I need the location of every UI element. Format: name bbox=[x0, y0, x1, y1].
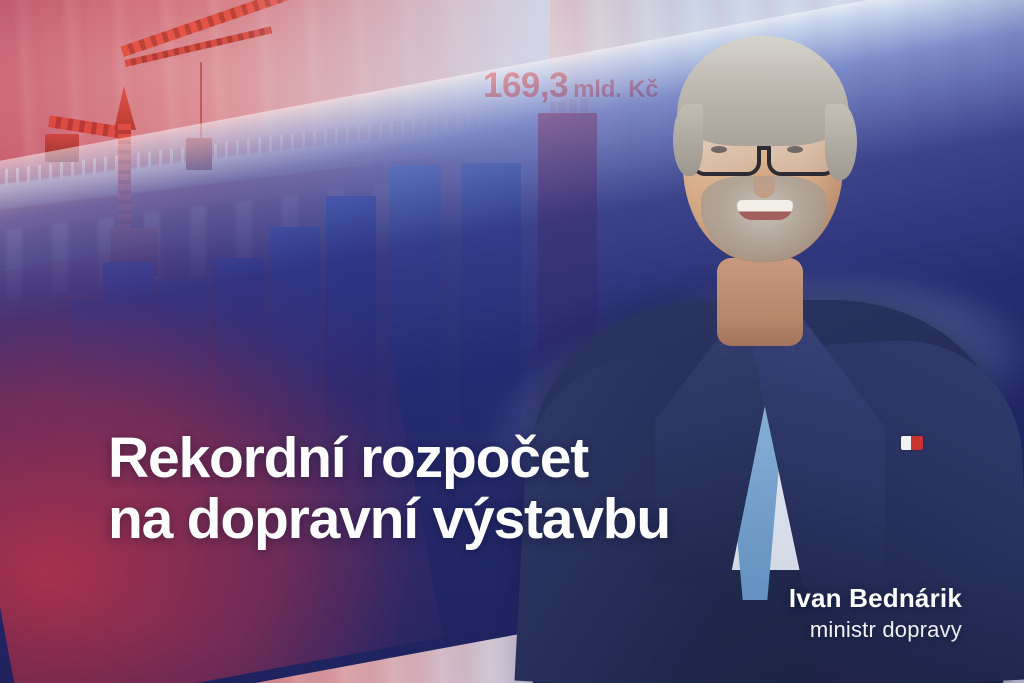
infographic-banner: 169,3mld. Kč Rekordn bbox=[0, 0, 1024, 683]
film-grain-overlay bbox=[0, 0, 1024, 683]
